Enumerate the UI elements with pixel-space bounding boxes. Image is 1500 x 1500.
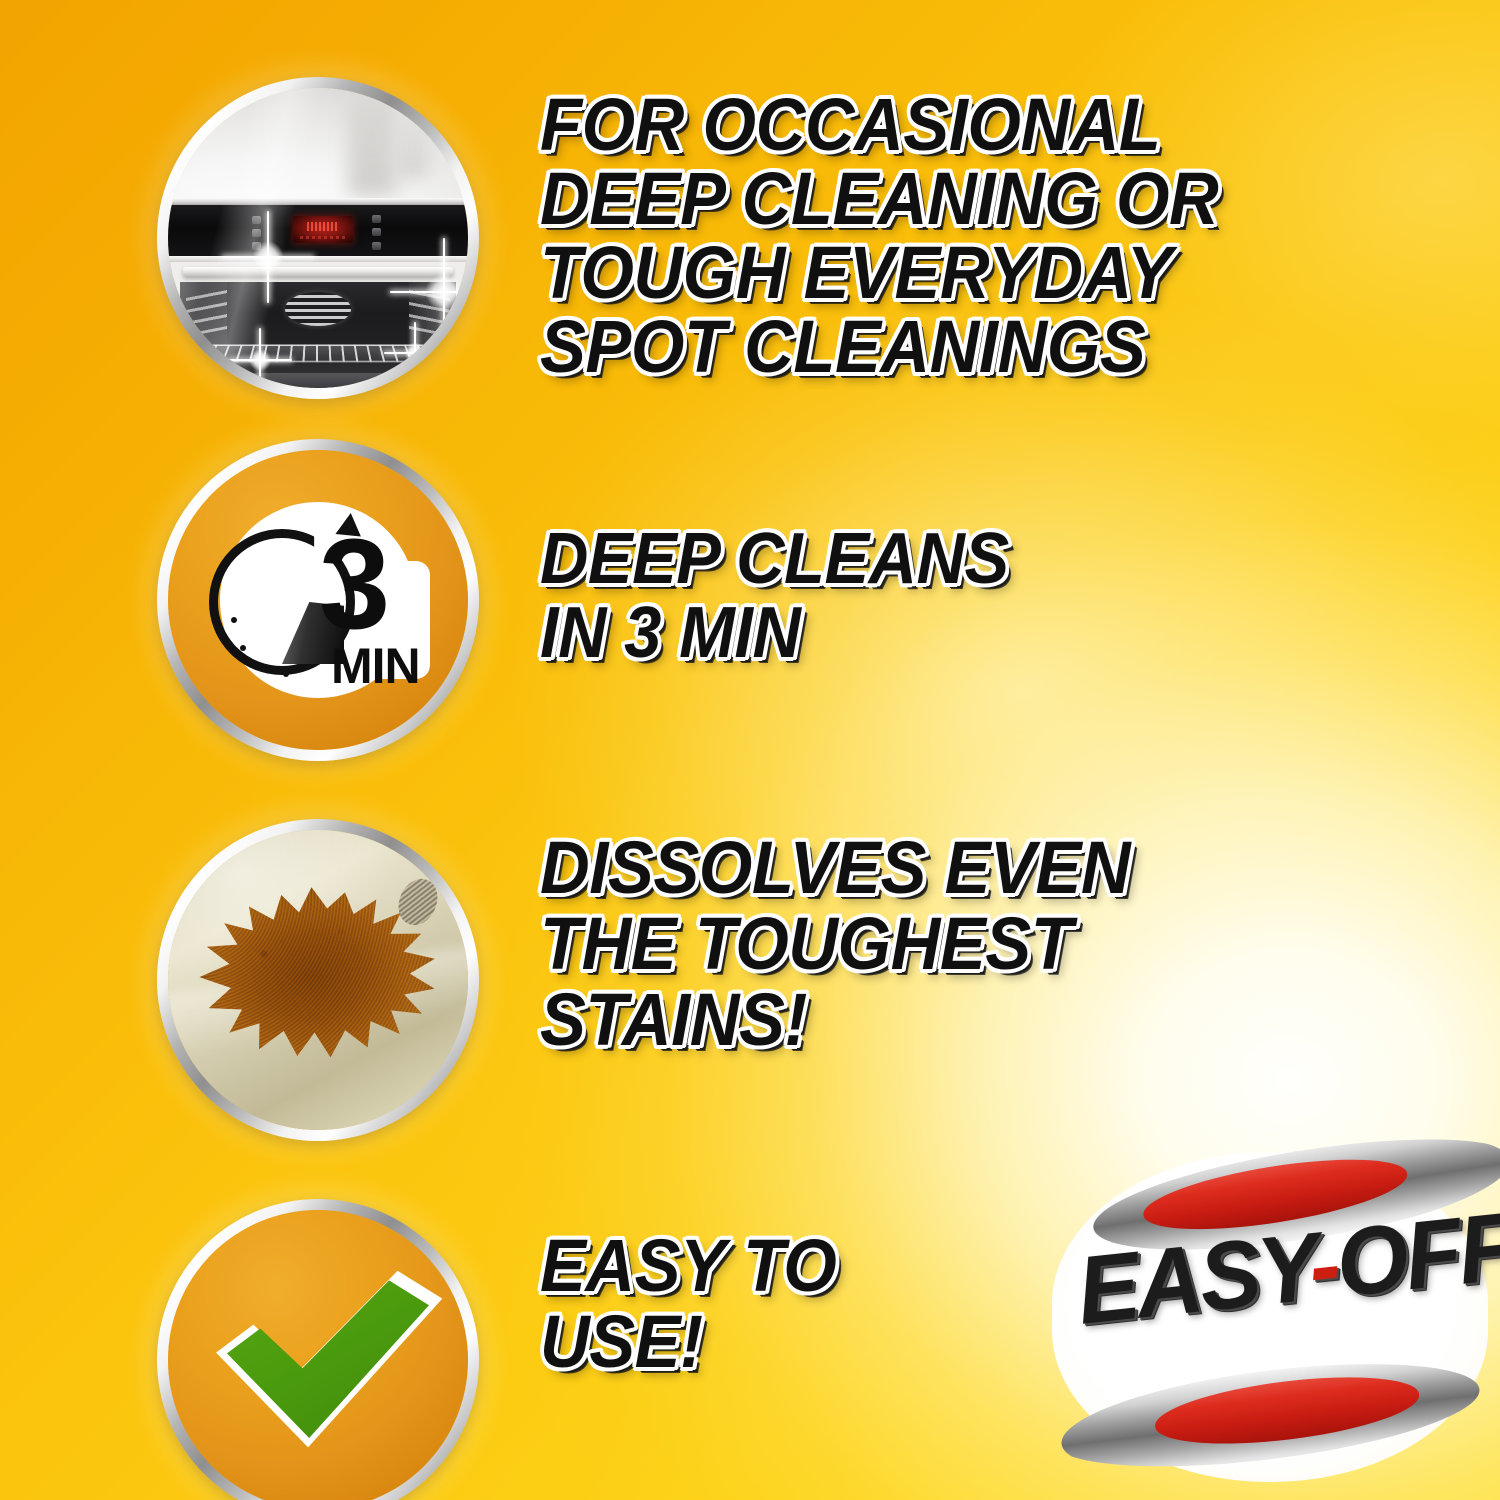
feature-row-stain: DISSOLVES EVEN THE TOUGHEST STAINS! [0,800,1500,1180]
badge-metal-ring: 3 MIN [157,439,479,761]
headline-dissolves-toughest-stains: DISSOLVES EVEN THE TOUGHEST STAINS! [540,830,1420,1058]
oven-badge [138,58,498,418]
stain-badge [138,800,498,1160]
headline-line: DEEP CLEANS [540,522,1358,596]
headline-line: SPOT CLEANINGS [540,310,1358,384]
badge-metal-ring [157,77,479,399]
headline-deep-cleans-in-3-min: DEEP CLEANS IN 3 MIN [540,522,1420,670]
headline-occasional-deep-cleaning: FOR OCCASIONAL DEEP CLEANING OR TOUGH EV… [540,88,1420,384]
badge-metal-ring [157,1199,479,1500]
logo-word-off: OFF [1331,1193,1500,1318]
dial-tick [240,645,246,651]
dial-tick [231,617,237,623]
headline-line: THE TOUGHEST [540,906,1358,982]
timer-number: 3 [319,521,386,649]
badge-inner [168,1210,468,1500]
headline-line: STAINS! [540,982,1358,1058]
check-badge [138,1180,498,1500]
dial-tick [258,663,264,669]
timer-3-min-icon: 3 MIN [168,450,468,750]
badge-metal-ring [157,819,479,1141]
timer-unit-label: MIN [331,641,420,691]
headline-line: DEEP CLEANING OR [540,162,1358,236]
badge-inner [168,88,468,388]
headline-line: IN 3 MIN [540,596,1358,670]
timer-badge: 3 MIN [138,420,498,780]
clean-oven-photo [168,88,468,388]
badge-inner: 3 MIN [168,450,468,750]
checkmark-fill [207,1277,429,1443]
headline-line: DISSOLVES EVEN [540,830,1358,906]
product-feature-poster: FOR OCCASIONAL DEEP CLEANING OR TOUGH EV… [0,0,1500,1500]
timer-artwork: 3 MIN [203,495,433,705]
feature-row-oven: FOR OCCASIONAL DEEP CLEANING OR TOUGH EV… [0,0,1500,460]
green-checkmark-icon [168,1210,468,1500]
checkmark-shape [207,1277,429,1443]
easy-off-logo: EASY-OFF [1052,1152,1488,1482]
headline-line: TOUGH EVERYDAY [540,236,1358,310]
oven-glass-sheen [168,88,468,388]
headline-line: FOR OCCASIONAL [540,88,1358,162]
dial-tick [283,671,289,677]
badge-inner [168,830,468,1130]
burnt-stain-photo [168,830,468,1130]
feature-row-3min: 3 MIN DEEP CLEANS IN 3 MIN [0,420,1500,800]
